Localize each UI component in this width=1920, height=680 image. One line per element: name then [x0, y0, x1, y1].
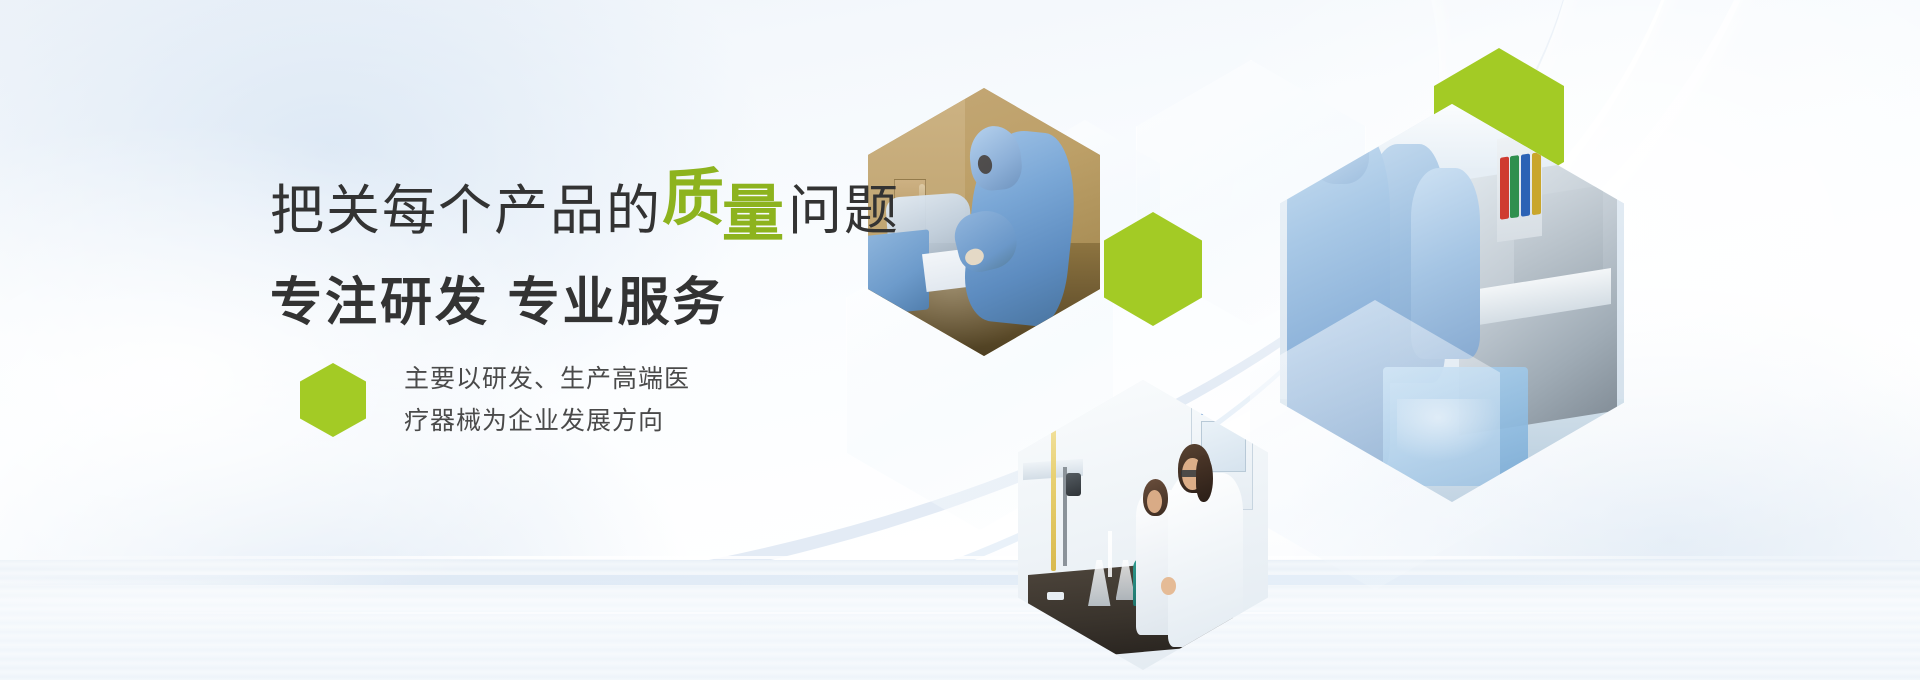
description-line-2: 疗器械为企业发展方向 [404, 400, 690, 442]
photo2-tool-red [1499, 156, 1508, 219]
photo3-door-sign [1201, 400, 1249, 415]
photo3-pipette [1108, 531, 1112, 577]
headline-accent-first: 质 [662, 160, 724, 238]
description-row: 主要以研发、生产高端医 疗器械为企业发展方向 [300, 358, 690, 442]
headline-lead: 把关每个产品的 [270, 181, 662, 241]
banner-copy: 把关每个产品的质量问题 专注研发 专业服务 [270, 170, 910, 336]
description-line-1: 主要以研发、生产高端医 [404, 358, 690, 400]
headline-secondary: 专注研发 专业服务 [270, 270, 910, 336]
hexagon-bullet-icon [300, 363, 366, 437]
photo3-technician-a-ponytail [1196, 455, 1214, 501]
headline-primary: 把关每个产品的质量问题 [270, 170, 910, 248]
photo2-tool-blue [1521, 153, 1530, 216]
photo2-tool-green [1510, 154, 1519, 217]
photo3-technician-a-hand [1161, 577, 1176, 594]
photo3-technician-b-face [1147, 490, 1162, 513]
headline-tail: 问题 [788, 181, 900, 241]
photo3-stand-base [1047, 592, 1065, 601]
hero-banner: 把关每个产品的质量问题 专注研发 专业服务 主要以研发、生产高端医 疗器械为企业… [0, 0, 1920, 680]
headline-accent-second: 量 [722, 176, 784, 254]
photo3-burette [1051, 421, 1056, 572]
description-text: 主要以研发、生产高端医 疗器械为企业发展方向 [404, 358, 690, 442]
photo2-tool-yellow [1532, 151, 1541, 214]
hexagon-collage [0, 0, 1920, 680]
photo3-stirrer [1066, 473, 1081, 496]
